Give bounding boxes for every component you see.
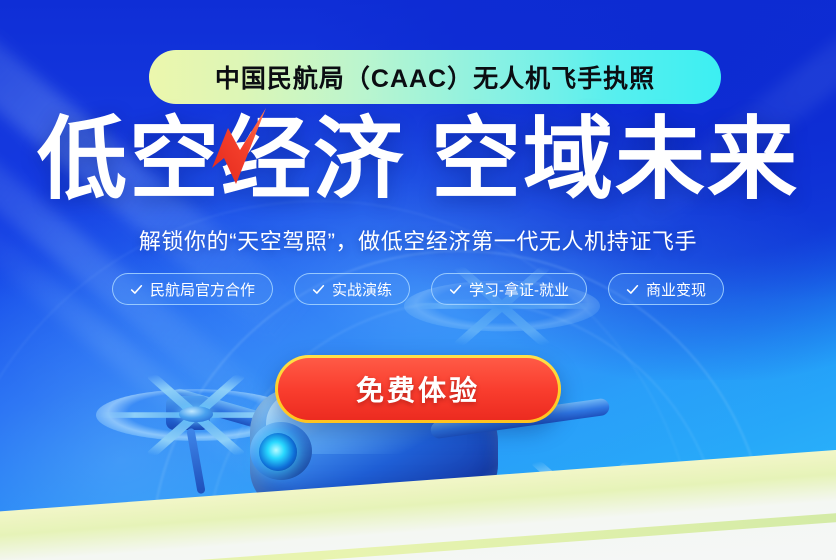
certificate-badge: 中国民航局（CAAC）无人机飞手执照 — [149, 50, 721, 104]
feature-pill-monetization[interactable]: 商业变现 — [608, 273, 724, 305]
check-icon — [449, 283, 462, 296]
feature-pill-label: 民航局官方合作 — [150, 279, 255, 300]
headline-part-1: 低空经济 — [37, 115, 405, 205]
feature-pill-practical-drills[interactable]: 实战演练 — [294, 273, 410, 305]
page-title: 低空经济 空域未来 — [0, 108, 836, 212]
feature-pill-list: 民航局官方合作 实战演练 学习-拿证-就业 商业变现 — [0, 273, 836, 305]
promo-banner: 中国民航局（CAAC）无人机飞手执照 低空经济 空域未来 解锁你的“天空驾照”，… — [0, 0, 836, 560]
headline-part-2: 空域未来 — [431, 115, 799, 205]
cta-container: 免费体验 — [275, 355, 561, 423]
certificate-badge-label: 中国民航局（CAAC）无人机飞手执照 — [215, 59, 655, 95]
check-icon — [130, 283, 143, 296]
check-icon — [312, 283, 325, 296]
free-trial-button[interactable]: 免费体验 — [278, 358, 558, 420]
feature-pill-label: 商业变现 — [646, 279, 706, 300]
feature-pill-label: 实战演练 — [332, 279, 392, 300]
feature-pill-label: 学习-拿证-就业 — [469, 279, 569, 300]
feature-pill-caac-partner[interactable]: 民航局官方合作 — [112, 273, 273, 305]
banner-content: 中国民航局（CAAC）无人机飞手执照 低空经济 空域未来 解锁你的“天空驾照”，… — [0, 0, 836, 560]
feature-pill-study-cert-job[interactable]: 学习-拿证-就业 — [431, 273, 587, 305]
page-subtitle: 解锁你的“天空驾照”，做低空经济第一代无人机持证飞手 — [0, 224, 836, 256]
check-icon — [626, 283, 639, 296]
